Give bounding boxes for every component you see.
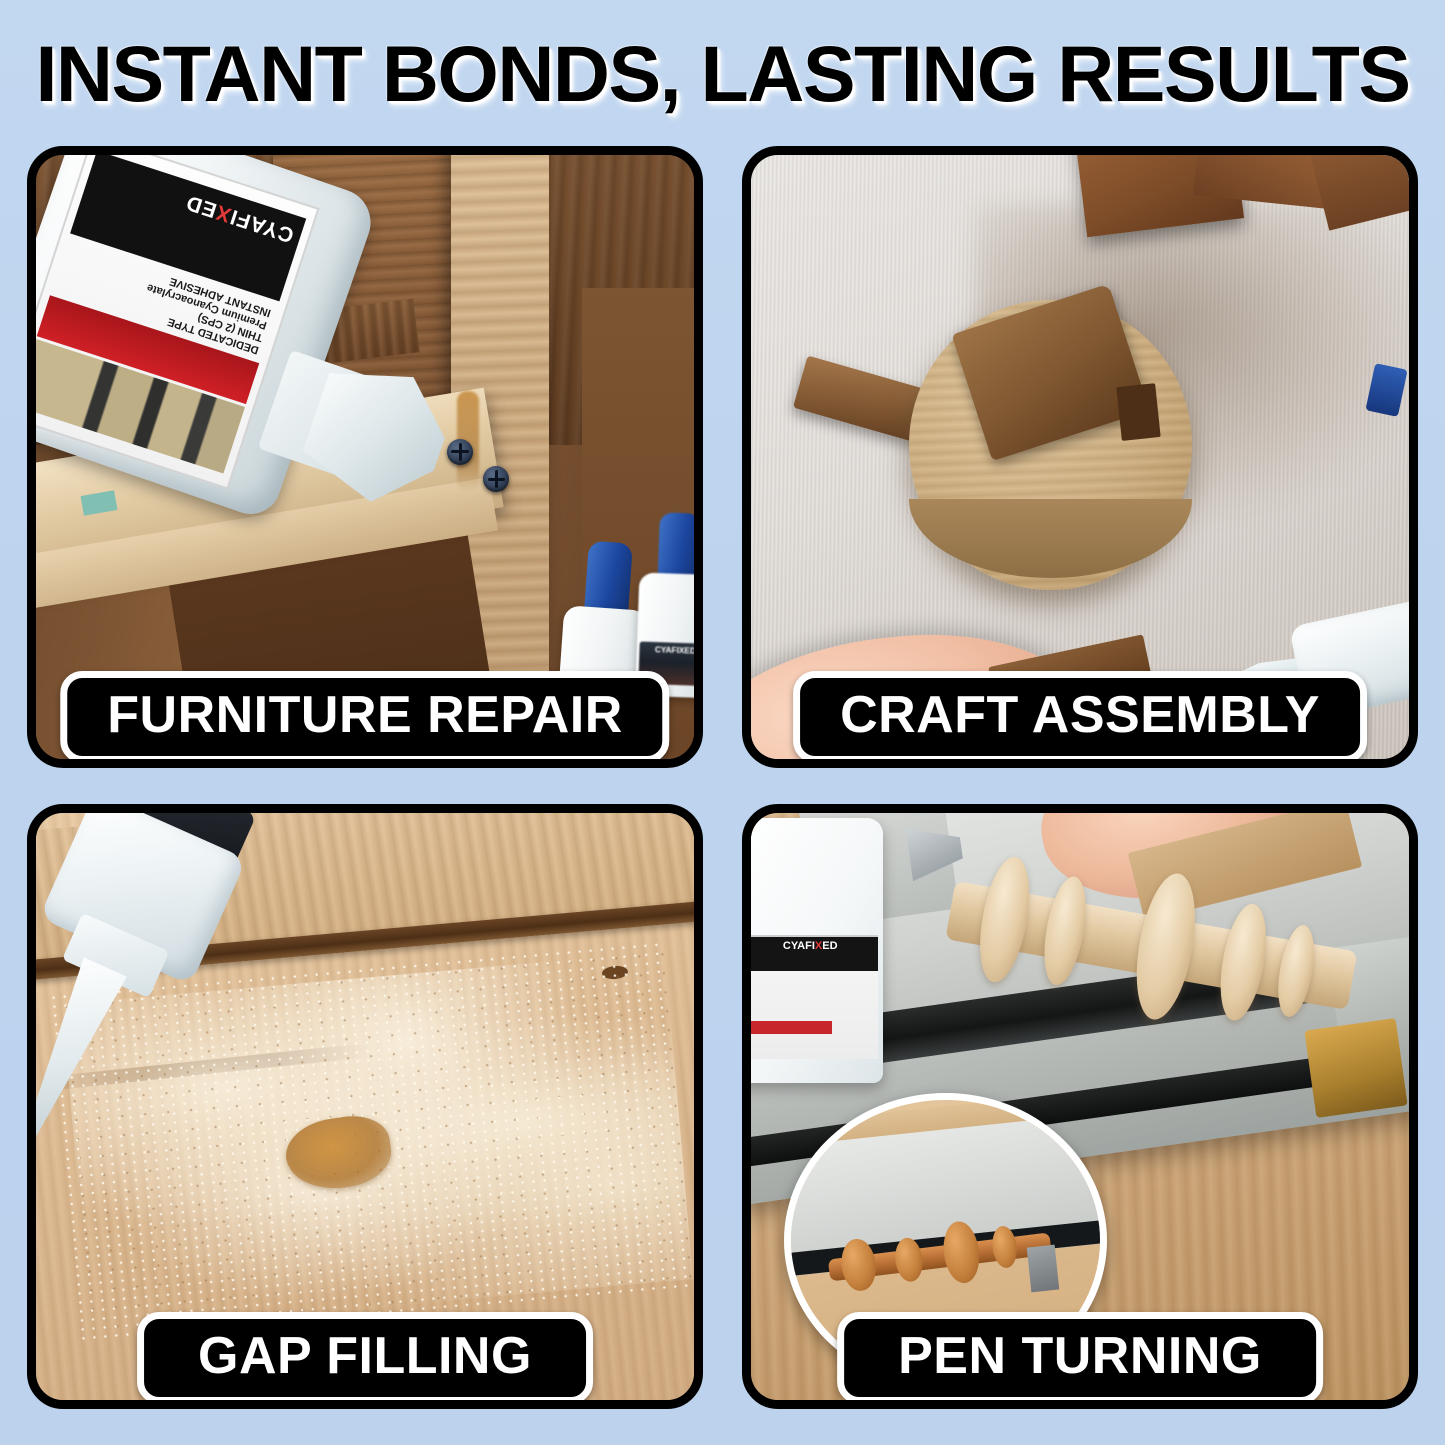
caption-badge-furniture-repair: FURNITURE REPAIR — [60, 671, 669, 763]
caption-text: FURNITURE REPAIR — [107, 687, 622, 744]
screw-head — [447, 439, 473, 465]
pen-bead — [940, 1219, 983, 1285]
caption-badge-craft-assembly: CRAFT ASSEMBLY — [793, 671, 1367, 763]
bottle-label: CYAFIXED — [751, 935, 878, 1059]
caption-text: GAP FILLING — [198, 1328, 532, 1385]
poster-root: INSTANT BONDS, LASTING RESULTS — [0, 0, 1445, 1445]
caption-text: CRAFT ASSEMBLY — [840, 687, 1320, 744]
page-title: INSTANT BONDS, LASTING RESULTS — [0, 32, 1445, 116]
pen-bead — [839, 1237, 879, 1293]
needle-applicator-tip — [36, 957, 127, 1143]
label-red-band — [751, 1021, 832, 1034]
pen-bead — [893, 1236, 925, 1283]
panel-pen-turning[interactable]: CYAFIXED — [742, 804, 1418, 1409]
brand-wordmark: CYAFIXED — [751, 937, 878, 971]
panel-gap-filling[interactable]: GAP FILLING — [27, 804, 703, 1409]
caption-badge-gap-filling: GAP FILLING — [137, 1312, 593, 1404]
panel-craft-assembly[interactable]: CRAFT ASSEMBLY — [742, 146, 1418, 768]
mortise-slot — [1117, 383, 1162, 441]
inset-metal-chip — [1027, 1245, 1059, 1293]
feature-panel-grid: DEDICATED TYPE THIN (2 CPS) Premium Cyan… — [27, 146, 1418, 1409]
adhesive-bottle-lathe: CYAFIXED — [751, 813, 883, 1083]
pen-bead — [990, 1225, 1019, 1270]
caption-badge-pen-turning: PEN TURNING — [837, 1312, 1323, 1404]
panel-furniture-repair[interactable]: DEDICATED TYPE THIN (2 CPS) Premium Cyan… — [27, 146, 703, 768]
caption-text: PEN TURNING — [898, 1328, 1262, 1385]
photo-craft-assembly — [751, 155, 1409, 759]
photo-furniture-repair: DEDICATED TYPE THIN (2 CPS) Premium Cyan… — [36, 155, 694, 759]
bottle-body: CYAFIXED — [751, 818, 883, 1083]
